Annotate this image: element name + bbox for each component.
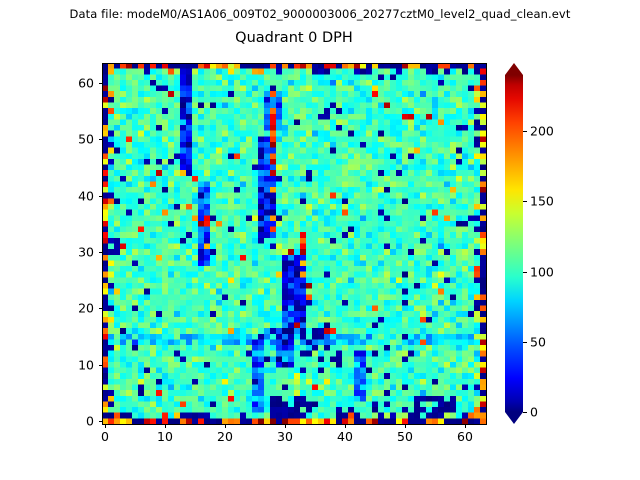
figure-canvas: Data file: modeM0/AS1A06_009T02_90000030… [0,0,640,480]
y-tick-label: 0 [86,414,94,429]
x-tick-mark [105,424,106,428]
datafile-label: Data file: modeM0/AS1A06_009T02_90000030… [0,7,640,21]
y-tick-label: 30 [78,245,94,260]
x-tick-mark [225,424,226,428]
x-tick-label: 0 [101,429,109,444]
y-tick-label: 50 [78,132,94,147]
colorbar-tick-label: 150 [530,194,554,209]
y-tick-mark [99,83,103,84]
colorbar-tick-label: 0 [530,405,538,420]
x-tick-label: 60 [457,429,473,444]
y-tick-label: 10 [78,357,94,372]
colorbar-extend-low-arrow [505,412,523,424]
y-tick-label: 60 [78,75,94,90]
axes-spine-bottom [102,424,487,425]
x-tick-mark [285,424,286,428]
y-tick-mark [99,139,103,140]
x-tick-mark [465,424,466,428]
x-tick-label: 40 [337,429,353,444]
colorbar-tick-mark [523,342,527,343]
colorbar-gradient [505,75,523,412]
colorbar-tick-label: 100 [530,264,554,279]
x-tick-label: 50 [397,429,413,444]
colorbar-tick-mark [523,131,527,132]
x-tick-mark [345,424,346,428]
colorbar-tick-label: 50 [530,334,546,349]
colorbar-tick-mark [523,272,527,273]
axes-spine-top [102,63,487,64]
colorbar-extend-high-arrow [505,63,523,75]
dph-heatmap-image[interactable] [102,63,486,424]
x-tick-label: 20 [217,429,233,444]
y-tick-label: 40 [78,188,94,203]
y-tick-mark [99,196,103,197]
colorbar-tick-mark [523,412,527,413]
y-tick-mark [99,308,103,309]
heatmap-axes[interactable] [102,63,486,424]
y-tick-label: 20 [78,301,94,316]
axes-spine-left [102,63,103,425]
x-tick-mark [165,424,166,428]
axes-spine-right [486,63,487,425]
x-tick-label: 10 [157,429,173,444]
colorbar[interactable] [505,63,523,424]
colorbar-tick-mark [523,201,527,202]
y-tick-mark [99,421,103,422]
colorbar-tick-label: 200 [530,124,554,139]
x-tick-mark [405,424,406,428]
x-tick-label: 30 [277,429,293,444]
y-tick-mark [99,252,103,253]
plot-title: Quadrant 0 DPH [102,30,486,46]
y-tick-mark [99,365,103,366]
